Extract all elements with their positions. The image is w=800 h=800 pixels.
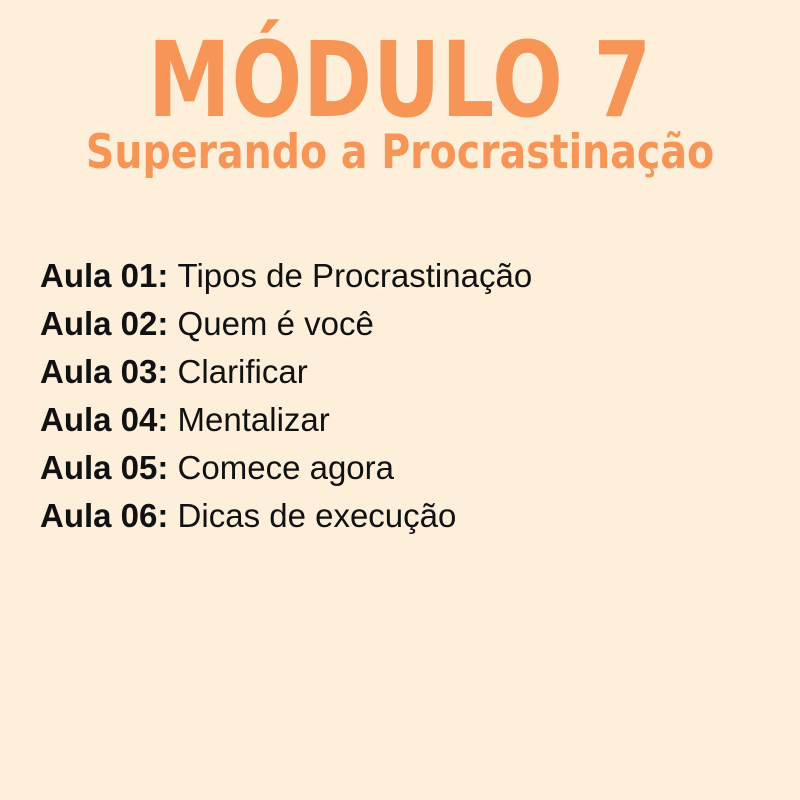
lesson-label: Aula 05: [40,449,178,486]
list-item: Aula 06: Dicas de execução [40,492,760,540]
lesson-list: Aula 01: Tipos de Procrastinação Aula 02… [40,252,760,540]
lesson-label: Aula 04: [40,401,178,438]
lesson-title: Dicas de execução [178,497,457,534]
lesson-title: Comece agora [178,449,394,486]
lesson-title: Tipos de Procrastinação [178,257,533,294]
lesson-label: Aula 06: [40,497,178,534]
lesson-label: Aula 03: [40,353,178,390]
page-title: MÓDULO 7 [80,28,720,132]
list-item: Aula 05: Comece agora [40,444,760,492]
list-item: Aula 03: Clarificar [40,348,760,396]
list-item: Aula 01: Tipos de Procrastinação [40,252,760,300]
lesson-label: Aula 02: [40,305,178,342]
list-item: Aula 02: Quem é você [40,300,760,348]
lesson-label: Aula 01: [40,257,178,294]
lesson-title: Mentalizar [178,401,330,438]
lesson-title: Quem é você [178,305,374,342]
lesson-title: Clarificar [178,353,308,390]
list-item: Aula 04: Mentalizar [40,396,760,444]
slide-canvas: MÓDULO 7 Superando a Procrastinação Aula… [0,0,800,800]
page-subtitle: Superando a Procrastinação [64,129,736,176]
